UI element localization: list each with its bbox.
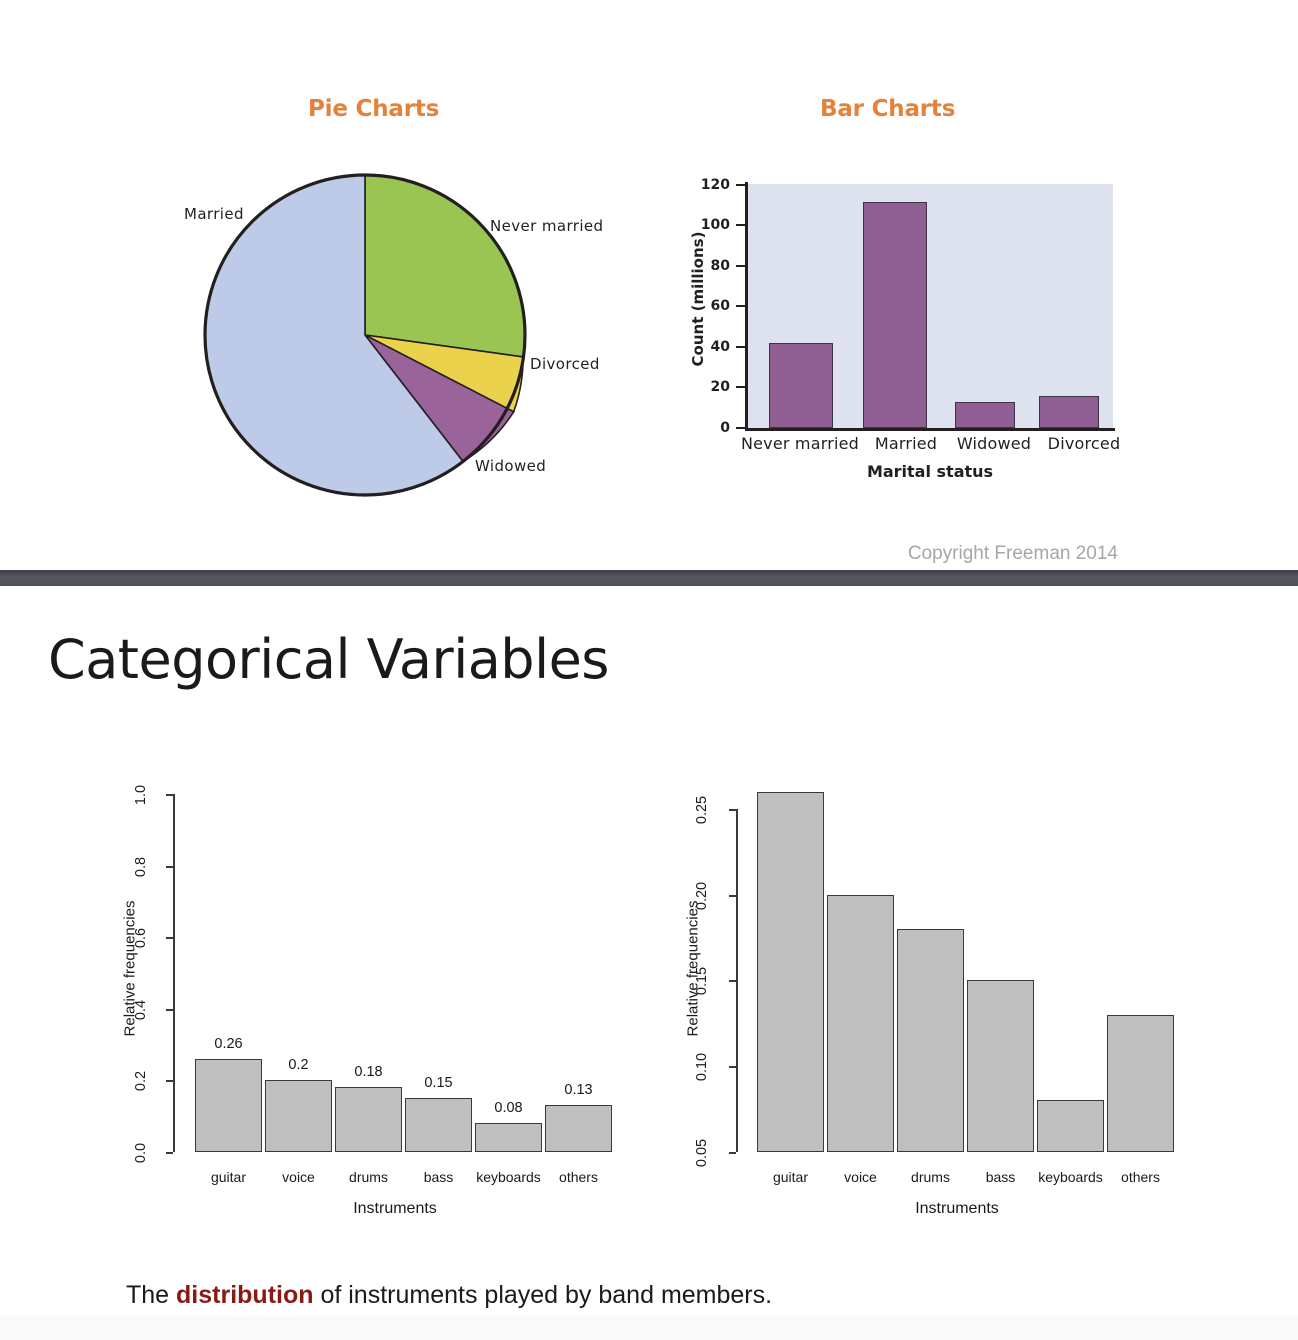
right-y-tick-label-2: 0.15	[694, 959, 710, 1003]
y-tick-mark-60	[736, 305, 745, 307]
bar-chart-x-axis-line	[745, 428, 1115, 431]
pie-label-never-married: Never married	[490, 217, 603, 235]
right-y-tick-4	[729, 809, 736, 811]
y-tick-label-0: 0	[688, 420, 730, 436]
y-tick-label-80: 80	[688, 258, 730, 274]
pie-charts-heading: Pie Charts	[308, 96, 439, 122]
left-chart-y-axis-line	[173, 794, 175, 1152]
left-bar-keyboards	[475, 1123, 542, 1152]
x-tick-label-divorced: Divorced	[1032, 434, 1136, 453]
left-y-tick-0	[166, 1152, 173, 1154]
right-chart-y-axis-line	[736, 809, 738, 1152]
right-bar-guitar	[757, 792, 824, 1152]
right-bar-bass	[967, 980, 1034, 1152]
y-tick-mark-20	[736, 386, 745, 388]
right-y-tick-3	[729, 895, 736, 897]
left-y-tick-label-0: 0.0	[133, 1131, 149, 1175]
slide-page: Pie Charts Bar Charts Married Never marr…	[0, 0, 1298, 1340]
slide-divider	[0, 570, 1298, 586]
y-tick-mark-80	[736, 265, 745, 267]
pie-label-married: Married	[184, 205, 244, 223]
right-bar-keyboards	[1037, 1100, 1104, 1152]
y-tick-label-120: 120	[688, 177, 730, 193]
caption-emphasis-distribution: distribution	[176, 1281, 313, 1309]
left-y-tick-label-5: 1.0	[133, 773, 149, 817]
left-category-others: others	[540, 1169, 617, 1185]
left-bar-value-others: 0.13	[545, 1082, 612, 1098]
right-category-keyboards: keyboards	[1027, 1169, 1114, 1185]
instruments-relative-frequency-chart-zoomed: Relative frequencies 0.05 0.10 0.15 0.20…	[650, 780, 1210, 1240]
right-chart-x-axis-label: Instruments	[737, 1200, 1177, 1218]
left-y-tick-3	[166, 937, 173, 939]
y-tick-mark-40	[736, 346, 745, 348]
y-tick-mark-0	[736, 427, 745, 429]
bar-chart-x-axis-label: Marital status	[745, 462, 1115, 481]
left-y-tick-2	[166, 1009, 173, 1011]
left-bar-value-guitar: 0.26	[195, 1036, 262, 1052]
bar-charts-heading: Bar Charts	[820, 96, 955, 122]
y-tick-label-20: 20	[688, 379, 730, 395]
right-y-tick-label-4: 0.25	[694, 788, 710, 832]
left-y-tick-label-1: 0.2	[133, 1059, 149, 1103]
right-category-guitar: guitar	[752, 1169, 829, 1185]
caption-text-before: The	[126, 1281, 176, 1309]
copyright-note: Copyright Freeman 2014	[908, 543, 1118, 565]
left-category-keyboards: keyboards	[465, 1169, 552, 1185]
bar-chart-y-axis-line	[745, 182, 748, 430]
bottom-band	[0, 1316, 1298, 1340]
right-category-drums: drums	[892, 1169, 969, 1185]
x-tick-label-never-married: Never married	[734, 434, 866, 453]
left-y-tick-1	[166, 1080, 173, 1082]
pie-slice-never-married	[365, 175, 525, 357]
left-y-tick-label-3: 0.6	[133, 916, 149, 960]
pie-chart-figure: Married Never married Divorced Widowed	[150, 160, 650, 510]
left-y-tick-label-4: 0.8	[133, 845, 149, 889]
right-y-tick-label-1: 0.10	[694, 1045, 710, 1089]
right-y-tick-1	[729, 1066, 736, 1068]
right-bar-others	[1107, 1015, 1174, 1152]
pie-label-widowed: Widowed	[475, 457, 546, 475]
y-tick-mark-100	[736, 224, 745, 226]
left-category-guitar: guitar	[190, 1169, 267, 1185]
left-bar-value-drums: 0.18	[335, 1064, 402, 1080]
left-bar-guitar	[195, 1059, 262, 1152]
left-y-tick-4	[166, 866, 173, 868]
left-bar-drums	[335, 1087, 402, 1152]
left-bar-others	[545, 1105, 612, 1152]
bar-divorced	[1039, 396, 1099, 428]
bar-widowed	[955, 402, 1015, 428]
y-tick-mark-120	[736, 184, 745, 186]
left-y-tick-5	[166, 794, 173, 796]
right-bar-drums	[897, 929, 964, 1152]
pie-label-divorced: Divorced	[530, 355, 600, 373]
slide-caption: The distribution of instruments played b…	[126, 1281, 772, 1310]
right-category-others: others	[1102, 1169, 1179, 1185]
y-tick-label-60: 60	[688, 298, 730, 314]
marital-status-bar-chart: Count (millions) 0 20 40 60 80 100 120	[660, 170, 1130, 500]
right-category-voice: voice	[822, 1169, 899, 1185]
page-title: Categorical Variables	[48, 628, 609, 691]
caption-text-after: of instruments played by band members.	[314, 1281, 773, 1309]
right-y-tick-label-3: 0.20	[694, 874, 710, 918]
left-category-drums: drums	[330, 1169, 407, 1185]
left-chart-y-axis-label: Relative frequencies	[122, 869, 139, 1069]
right-y-tick-label-0: 0.05	[694, 1131, 710, 1175]
left-bar-value-keyboards: 0.08	[475, 1100, 542, 1116]
left-bar-value-voice: 0.2	[265, 1057, 332, 1073]
left-bar-bass	[405, 1098, 472, 1152]
bar-married	[863, 202, 927, 428]
bar-never-married	[769, 343, 833, 428]
right-bar-voice	[827, 895, 894, 1152]
right-y-tick-2	[729, 980, 736, 982]
left-y-tick-label-2: 0.4	[133, 988, 149, 1032]
bar-chart-plot-area	[747, 184, 1113, 428]
left-bar-value-bass: 0.15	[405, 1075, 472, 1091]
left-bar-voice	[265, 1080, 332, 1152]
y-tick-label-100: 100	[688, 217, 730, 233]
left-chart-x-axis-label: Instruments	[175, 1200, 615, 1218]
slide-categorical-variables: Categorical Variables Relative frequenci…	[0, 586, 1298, 1340]
y-tick-label-40: 40	[688, 339, 730, 355]
instruments-relative-frequency-chart-full-scale: Relative frequencies 0.0 0.2 0.4 0.6 0.8…	[95, 780, 655, 1240]
slide-pie-and-bar-charts: Pie Charts Bar Charts Married Never marr…	[0, 0, 1298, 570]
right-y-tick-0	[729, 1152, 736, 1154]
left-category-voice: voice	[260, 1169, 337, 1185]
